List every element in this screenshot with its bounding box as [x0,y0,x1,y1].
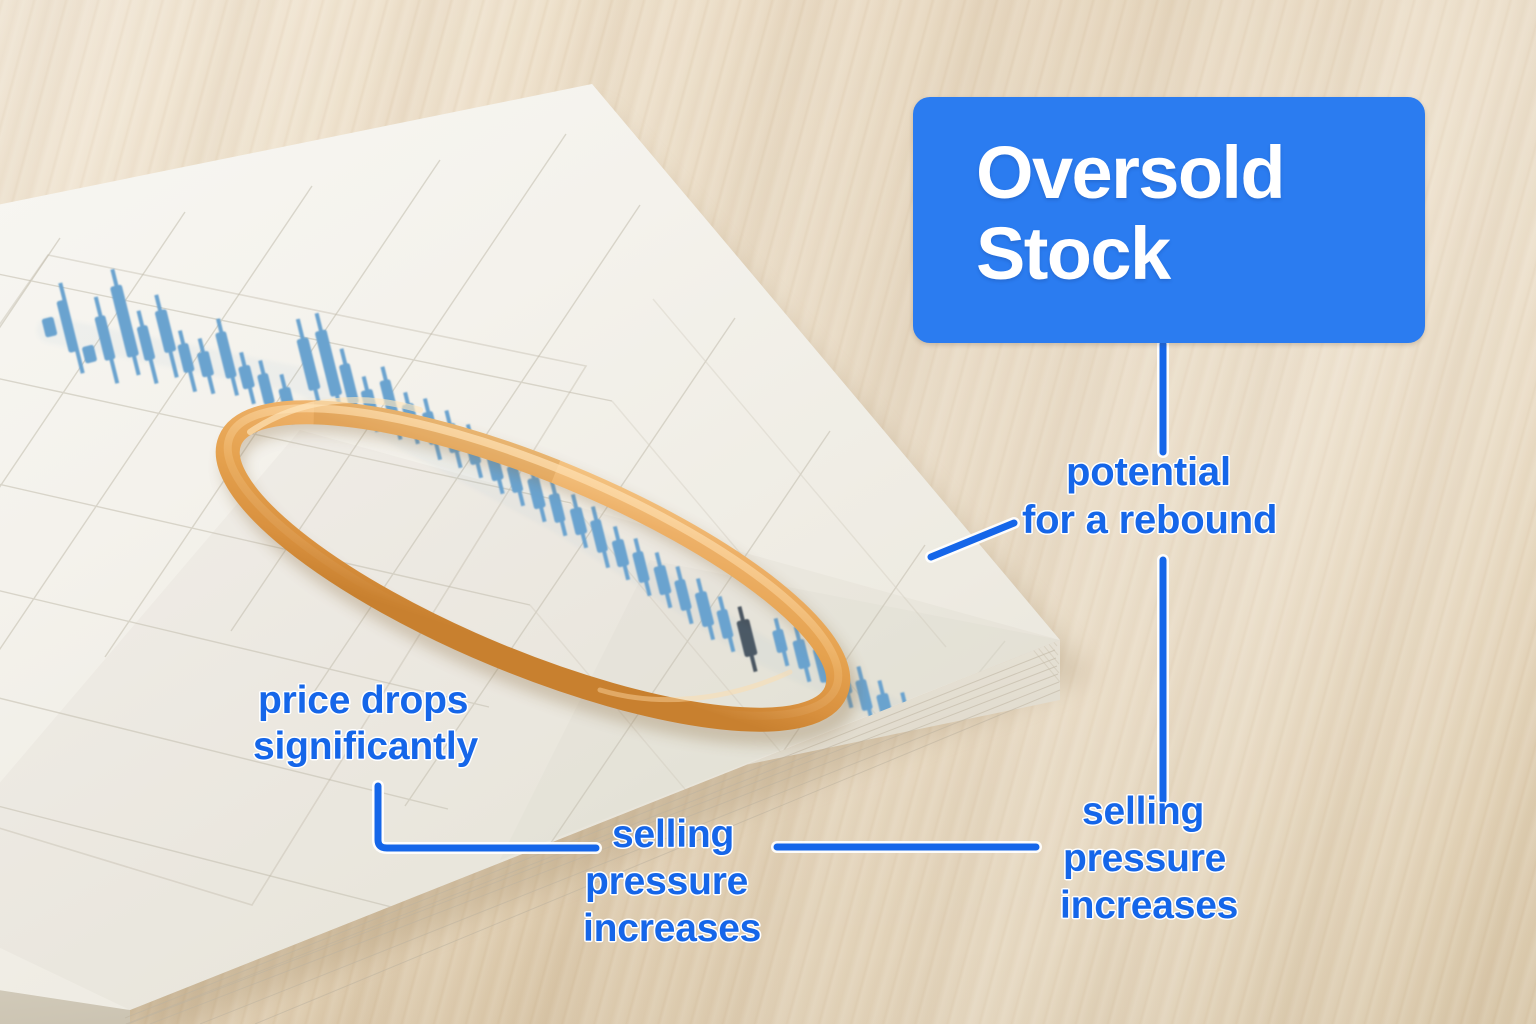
annotation-pressure-right: pressure [1063,839,1226,880]
scene-root: Oversold Stock potential for a rebound p… [0,0,1536,1024]
annotation-selling-right: selling [1082,792,1204,833]
annotation-increases-left: increases [583,909,761,950]
annotation-increases-right: increases [1060,886,1238,927]
badge-title-line2: Stock [976,217,1170,290]
annotation-for-a-rebound: for a rebound [1022,500,1277,542]
annotation-selling-left: selling [612,815,734,856]
badge-title-line1: Oversold [976,136,1284,209]
annotation-price-drops: price drops [258,681,468,722]
annotation-potential: potential [1066,452,1231,494]
annotation-significantly: significantly [253,727,478,768]
annotation-pressure-left: pressure [585,862,748,903]
